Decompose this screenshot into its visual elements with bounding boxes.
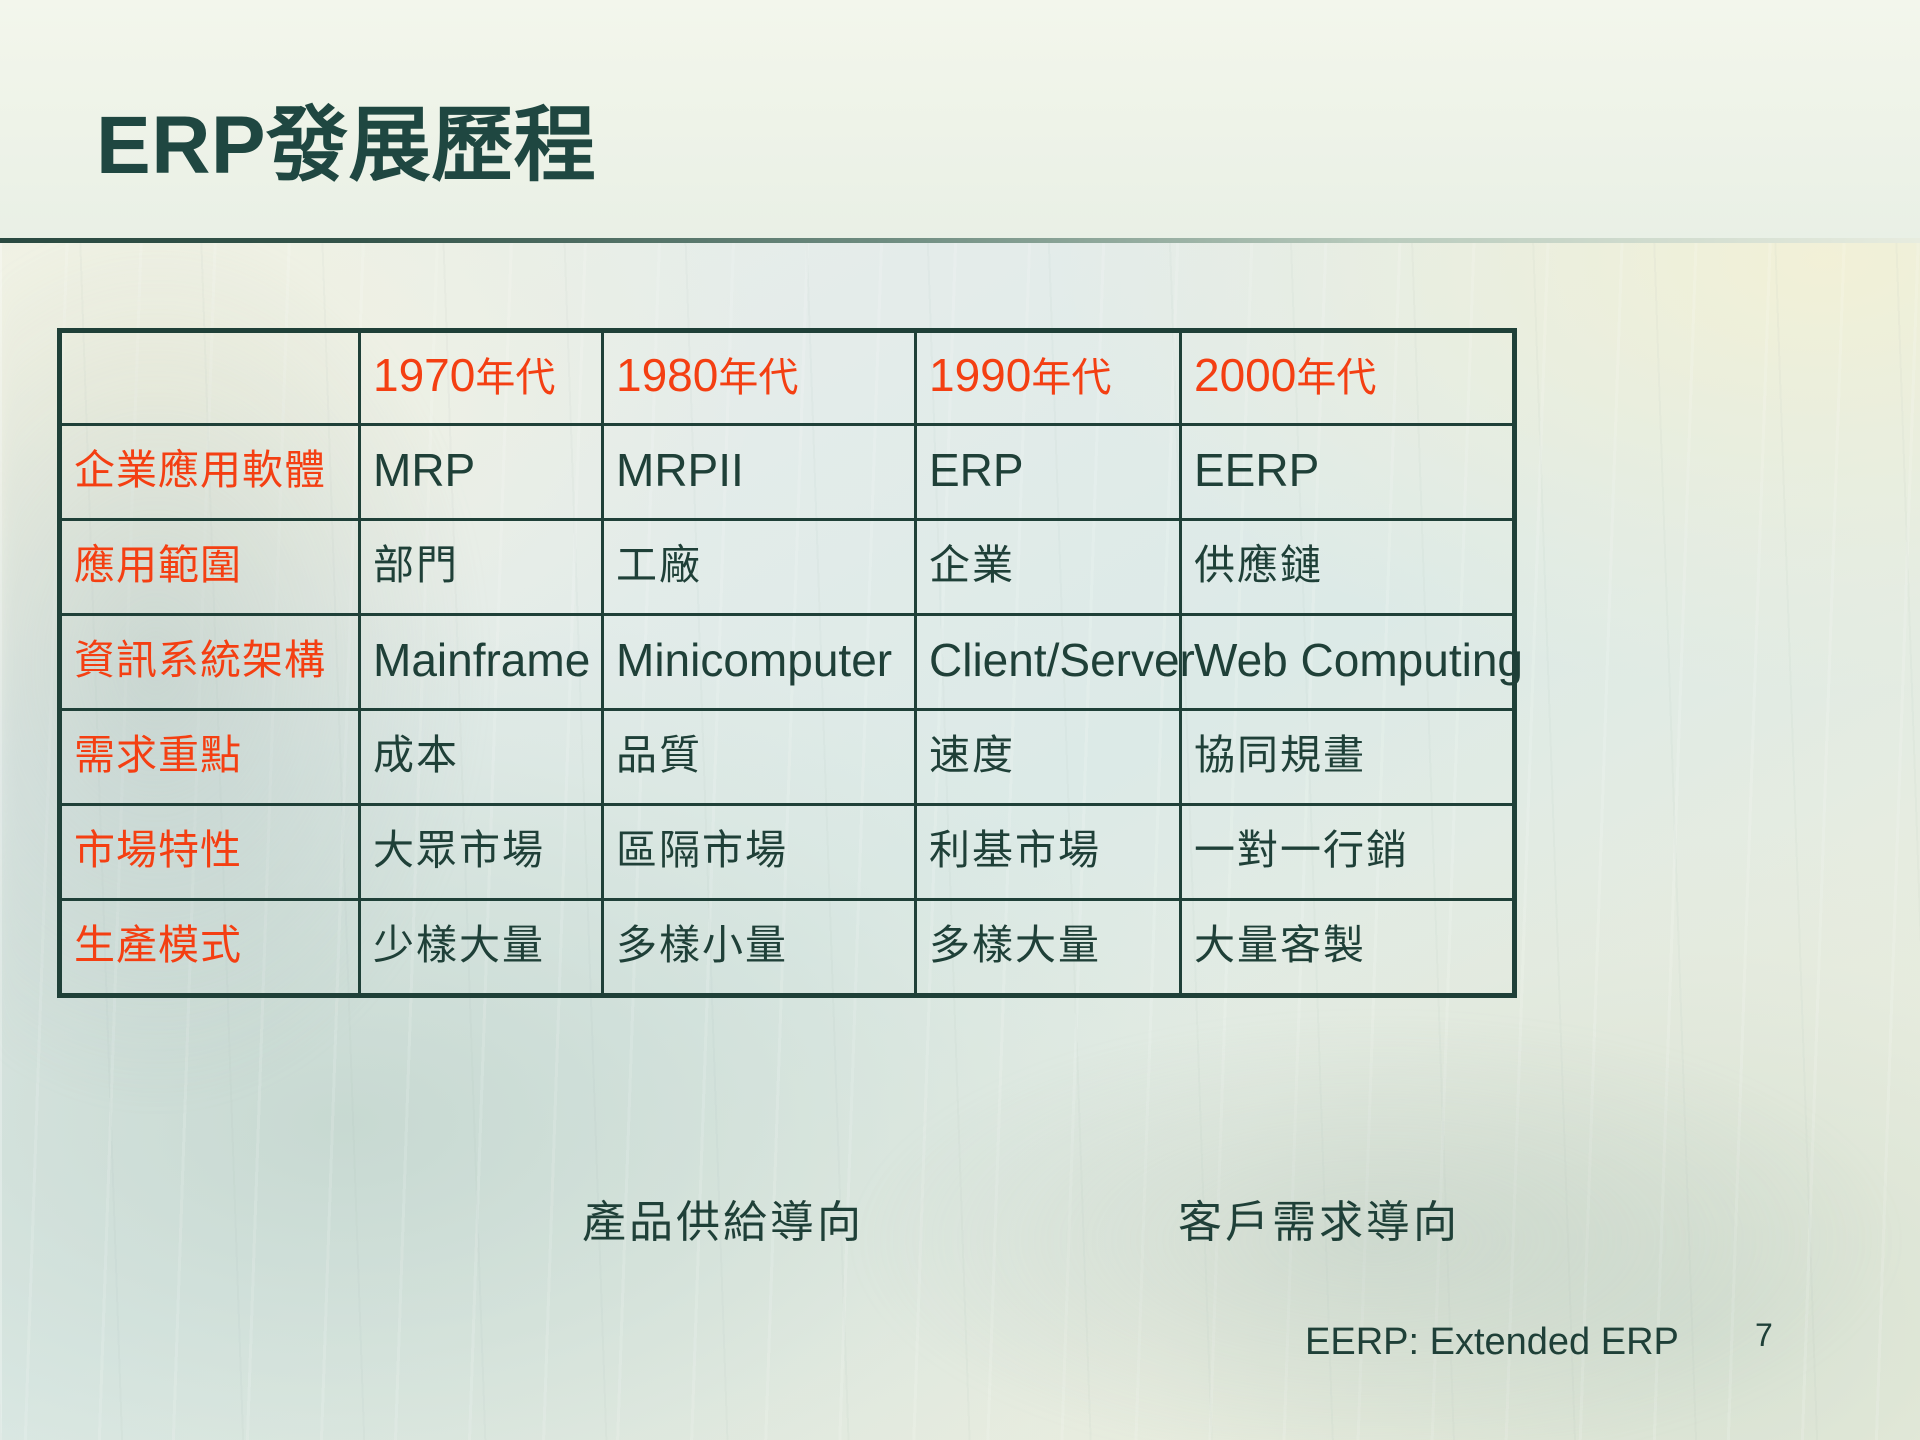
table-row: 需求重點 成本 品質 速度 協同規畫: [60, 710, 1515, 805]
cell-value: 區隔市場: [616, 826, 788, 874]
table-cell: 大量客製: [1181, 900, 1515, 996]
footnote-eerp-definition: EERP: Extended ERP: [1305, 1319, 1679, 1365]
cell-value: Web Computing: [1194, 634, 1523, 686]
table-cell: EERP: [1181, 425, 1515, 520]
row-label-software: 企業應用軟體: [74, 446, 326, 494]
row-label-cell: 企業應用軟體: [60, 425, 360, 520]
table-cell: 成本: [360, 710, 603, 805]
table-row: 企業應用軟體 MRP MRPII ERP EERP: [60, 425, 1515, 520]
cell-value: 一對一行銷: [1194, 826, 1409, 874]
table-cell: 速度: [916, 710, 1181, 805]
table-header-row: 1970年代 1980年代 1990年代 2000年代: [60, 331, 1515, 425]
column-header-1980-label: 1980年代: [616, 349, 798, 401]
table-cell: 多樣小量: [603, 900, 916, 996]
cell-value: 工廠: [616, 541, 702, 589]
table-cell: Web Computing: [1181, 615, 1515, 710]
table-row: 應用範圍 部門 工廠 企業 供應鏈: [60, 520, 1515, 615]
row-label-demand-focus: 需求重點: [74, 731, 242, 779]
row-label-scope: 應用範圍: [74, 541, 242, 589]
table-cell: ERP: [916, 425, 1181, 520]
page-number: 7: [1755, 1315, 1773, 1355]
table-cell: MRP: [360, 425, 603, 520]
table-cell: 企業: [916, 520, 1181, 615]
cell-value: 成本: [373, 731, 459, 779]
cell-value: Client/Server: [929, 634, 1195, 686]
row-label-cell: 生產模式: [60, 900, 360, 996]
column-header-1970-label: 1970年代: [373, 349, 555, 401]
table-cell: 利基市場: [916, 805, 1181, 900]
table-cell: 部門: [360, 520, 603, 615]
column-header-2000-label: 2000年代: [1194, 349, 1376, 401]
table-cell: 供應鏈: [1181, 520, 1515, 615]
cell-value: 速度: [929, 731, 1015, 779]
cell-value: EERP: [1194, 444, 1319, 496]
table-cell: 一對一行銷: [1181, 805, 1515, 900]
column-header-1980: 1980年代: [603, 331, 916, 425]
cell-value: 部門: [373, 541, 459, 589]
column-header-1990-label: 1990年代: [929, 349, 1111, 401]
cell-value: 大眾市場: [373, 826, 545, 874]
table-cell: 協同規畫: [1181, 710, 1515, 805]
cell-value: 少樣大量: [373, 921, 545, 969]
slide-canvas: ERP發展歷程 1970年代 1980年代 1990年代: [0, 0, 1920, 1440]
cell-value: 品質: [616, 731, 702, 779]
caption-product-supply-oriented: 產品供給導向: [582, 1196, 864, 1250]
table-row: 資訊系統架構 Mainframe Minicomputer Client/Ser…: [60, 615, 1515, 710]
table-cell: 區隔市場: [603, 805, 916, 900]
cell-value: 多樣大量: [929, 921, 1101, 969]
table-cell: 多樣大量: [916, 900, 1181, 996]
table-corner-cell: [60, 331, 360, 425]
row-label-cell: 市場特性: [60, 805, 360, 900]
cell-value: MRP: [373, 444, 475, 496]
row-label-production: 生產模式: [74, 921, 242, 969]
table-cell: 品質: [603, 710, 916, 805]
table-cell: Mainframe: [360, 615, 603, 710]
page-title: ERP發展歷程: [96, 98, 596, 194]
cell-value: 利基市場: [929, 826, 1101, 874]
table-row: 生產模式 少樣大量 多樣小量 多樣大量 大量客製: [60, 900, 1515, 996]
caption-customer-demand-oriented: 客戶需求導向: [1178, 1196, 1460, 1250]
cell-value: 多樣小量: [616, 921, 788, 969]
row-label-market: 市場特性: [74, 826, 242, 874]
column-header-1990: 1990年代: [916, 331, 1181, 425]
erp-history-table: 1970年代 1980年代 1990年代 2000年代 企業應用軟體 MRP M…: [57, 328, 1517, 998]
column-header-1970: 1970年代: [360, 331, 603, 425]
row-label-cell: 應用範圍: [60, 520, 360, 615]
title-divider-rule: [0, 238, 1920, 243]
column-header-2000: 2000年代: [1181, 331, 1515, 425]
cell-value: 企業: [929, 541, 1015, 589]
cell-value: 大量客製: [1194, 921, 1366, 969]
table-cell: MRPII: [603, 425, 916, 520]
table-cell: Minicomputer: [603, 615, 916, 710]
table-row: 市場特性 大眾市場 區隔市場 利基市場 一對一行銷: [60, 805, 1515, 900]
row-label-cell: 需求重點: [60, 710, 360, 805]
cell-value: Mainframe: [373, 634, 590, 686]
table-cell: 少樣大量: [360, 900, 603, 996]
row-label-architecture: 資訊系統架構: [74, 636, 326, 684]
background-shadow-bottom: [560, 940, 1920, 1440]
row-label-cell: 資訊系統架構: [60, 615, 360, 710]
cell-value: 協同規畫: [1194, 731, 1366, 779]
cell-value: Minicomputer: [616, 634, 892, 686]
table-cell: Client/Server: [916, 615, 1181, 710]
table-cell: 大眾市場: [360, 805, 603, 900]
table-cell: 工廠: [603, 520, 916, 615]
cell-value: 供應鏈: [1194, 541, 1323, 589]
cell-value: ERP: [929, 444, 1024, 496]
cell-value: MRPII: [616, 444, 744, 496]
